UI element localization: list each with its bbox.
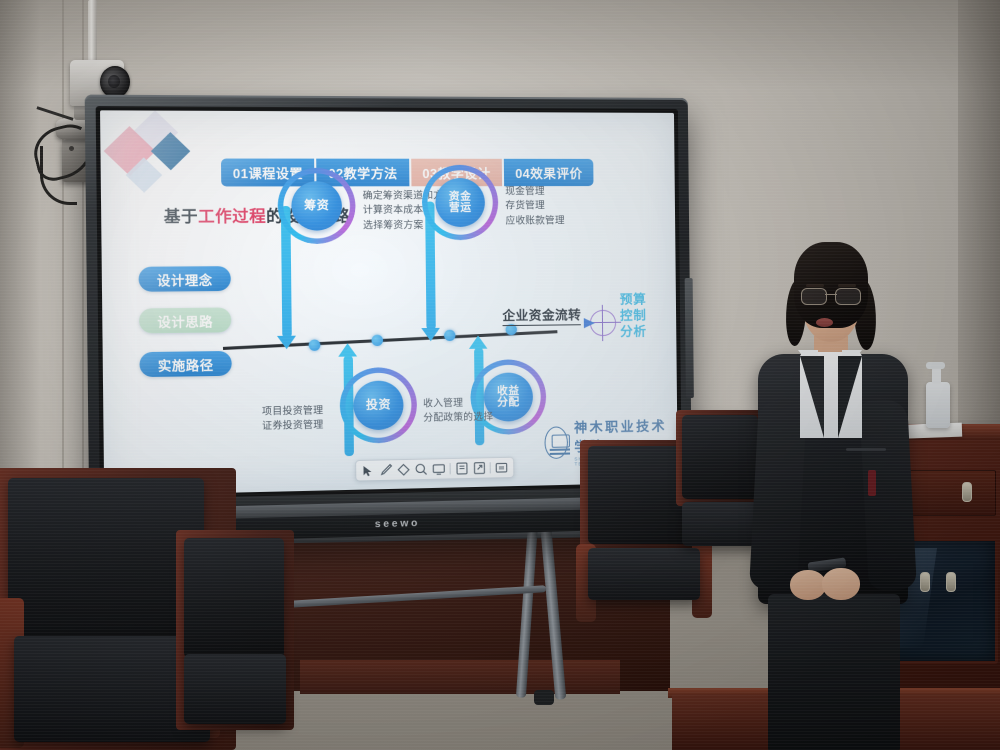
presenter [742,242,924,750]
display-side-buttons[interactable] [685,278,694,398]
unit-label-line2: 营运 [449,202,472,213]
presenter-mouth [816,318,833,327]
target-crosshair-icon [590,310,616,336]
title-prefix: 基于 [164,208,199,226]
bullet: 证券投资管理 [262,419,324,435]
tab-04-effect-evaluation[interactable]: 04效果评价 [504,159,594,186]
budget-line1: 预算 [620,291,647,307]
unit-capital-operations: 资金 营运 [422,165,499,240]
bullet: 分配政策的选择 [423,411,493,427]
presenter-left-hand [790,570,826,600]
bullet: 存货管理 [505,200,564,215]
chair-left-rear [176,530,296,750]
unit-label-line2: 分配 [497,397,520,409]
presenter-lower-body [768,594,900,750]
bullet: 收入管理 [423,396,493,412]
cabinet-door-handle[interactable] [946,572,956,592]
annotation-toolbar[interactable] [355,457,514,482]
unit-label-capital-operations: 资金 营运 [435,178,485,227]
glasses-lens [835,288,861,305]
cursor-icon[interactable] [359,462,377,480]
presenter-right-hand [822,568,860,600]
presenter-lapel [838,356,862,438]
budget-line3: 分析 [620,323,647,339]
flow-label-corporate-capital-circulation: 企业资金流转 [502,304,581,326]
arrow-head-up-investment [338,343,357,357]
arrow-head-up-profit-distribution [469,335,488,348]
note-icon[interactable] [453,460,471,478]
sanitizer-neck [932,368,941,384]
college-emblem-icon [544,426,568,459]
sanitizer-pump [926,362,945,369]
budget-control-analysis-label: 预算 控制 分析 [620,291,647,339]
pill-design-concept[interactable]: 设计理念 [138,266,230,292]
presenter-eyebrow [806,284,824,287]
screen-icon[interactable] [430,460,448,478]
display-brand-logo: seewo [375,518,420,530]
camera-lens-icon [100,66,130,98]
bullets-profit-distribution: 收入管理 分配政策的选择 [423,396,493,427]
eraser-icon[interactable] [395,461,413,479]
pill-implementation-path[interactable]: 实施路径 [139,351,231,377]
timeline-node [371,335,383,346]
toolbar-divider [490,462,491,473]
toolbar-divider [450,463,451,474]
presenter-left-arm [749,399,807,591]
sanitizer-bottle [926,382,950,428]
glasses-icon [800,288,862,303]
presenter-lapel [800,356,824,438]
bullet: 应收账款管理 [505,214,564,229]
window-icon[interactable] [493,459,511,477]
pill-design-approach[interactable]: 设计思路 [139,307,231,333]
magnifier-icon[interactable] [412,461,430,479]
cabinet-drawer-handle[interactable] [962,482,972,502]
bullets-investment: 项目投资管理 证券投资管理 [262,404,324,435]
title-highlight: 工作过程 [198,208,266,226]
unit-financing: 筹资 [277,168,356,244]
timeline-node [444,330,455,341]
back-table-panel [300,660,620,694]
presenter-pocket [846,448,886,451]
budget-line2: 控制 [620,307,647,323]
timeline-node [309,340,321,351]
camera-antenna [36,106,73,121]
classroom-scene: 01课程设置 02教学方法 03教学设计 04效果评价 基于工作过程的设计思路 … [0,0,1000,750]
arrow-head-down-operations [421,328,440,341]
share-icon[interactable] [470,459,488,477]
glasses-lens [801,288,827,305]
stand-foot [534,690,554,705]
unit-label-financing: 筹资 [291,181,342,230]
pen-icon[interactable] [377,461,395,479]
presenter-eyebrow [838,284,856,287]
target-arrow-icon [584,318,595,328]
unit-investment: 投资 [339,367,417,444]
bullet: 项目投资管理 [262,404,324,420]
bullets-capital-operations: 现金管理 存货管理 应收账款管理 [505,185,565,229]
slide-screen[interactable]: 01课程设置 02教学方法 03教学设计 04效果评价 基于工作过程的设计思路 … [100,110,678,495]
arrow-head-down-financing [277,336,296,350]
bullet: 现金管理 [505,185,564,200]
presenter-badge [868,470,876,496]
